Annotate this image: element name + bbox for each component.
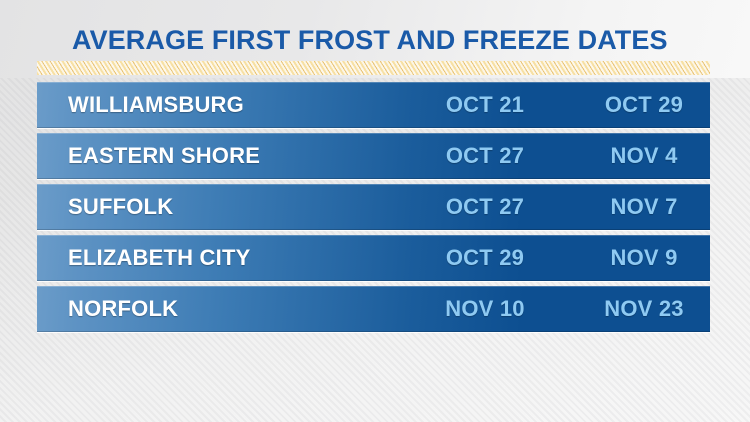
gold-hatched-divider bbox=[37, 61, 710, 75]
first-frost-date: OCT 27 bbox=[406, 194, 564, 220]
first-freeze-date: NOV 23 bbox=[564, 296, 724, 322]
location-name: WILLIAMSBURG bbox=[37, 92, 406, 118]
weather-graphic: AVERAGE FIRST FROST AND FREEZE DATES WIL… bbox=[0, 0, 750, 422]
table-row: EASTERN SHORE OCT 27 NOV 4 bbox=[37, 133, 710, 179]
first-frost-date: OCT 21 bbox=[406, 92, 564, 118]
location-name: NORFOLK bbox=[37, 296, 406, 322]
first-freeze-date: NOV 4 bbox=[564, 143, 724, 169]
first-frost-date: OCT 29 bbox=[406, 245, 564, 271]
page-title: AVERAGE FIRST FROST AND FREEZE DATES bbox=[0, 24, 750, 56]
first-frost-date: OCT 27 bbox=[406, 143, 564, 169]
first-freeze-date: NOV 7 bbox=[564, 194, 724, 220]
location-name: SUFFOLK bbox=[37, 194, 406, 220]
location-name: EASTERN SHORE bbox=[37, 143, 406, 169]
frost-freeze-table: WILLIAMSBURG OCT 21 OCT 29 EASTERN SHORE… bbox=[37, 82, 710, 332]
table-row: SUFFOLK OCT 27 NOV 7 bbox=[37, 184, 710, 230]
location-name: ELIZABETH CITY bbox=[37, 245, 406, 271]
table-row: NORFOLK NOV 10 NOV 23 bbox=[37, 286, 710, 332]
first-frost-date: NOV 10 bbox=[406, 296, 564, 322]
table-row: WILLIAMSBURG OCT 21 OCT 29 bbox=[37, 82, 710, 128]
first-freeze-date: OCT 29 bbox=[564, 92, 724, 118]
table-row: ELIZABETH CITY OCT 29 NOV 9 bbox=[37, 235, 710, 281]
title-container: AVERAGE FIRST FROST AND FREEZE DATES bbox=[0, 24, 750, 56]
first-freeze-date: NOV 9 bbox=[564, 245, 724, 271]
